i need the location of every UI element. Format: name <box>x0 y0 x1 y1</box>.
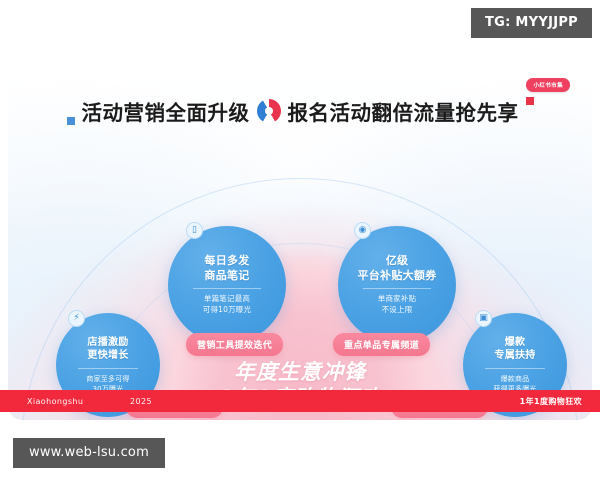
cart-icon: ▣ <box>475 310 492 327</box>
feature-bubble-platform-coupon[interactable]: ◉ 亿级 平台补贴大额券 单商家补贴 不设上限 <box>338 226 456 344</box>
headline-right-text: 报名活动翻倍流量抢先享 <box>288 96 519 126</box>
bubble-sub-line1: 单篇笔记最高 <box>203 294 251 305</box>
bubble-title-line2: 平台补贴大额券 <box>357 269 436 284</box>
footer-bar: Xiaohongshu 2025 1年1度购物狂欢 <box>0 390 600 412</box>
bubble-sub-line1: 商家至多可得 <box>86 374 129 384</box>
coupon-icon: ◉ <box>354 222 371 239</box>
footer-year: 2025 <box>130 397 152 406</box>
footer-tagline: 1年1度购物狂欢 <box>520 396 582 407</box>
bubble-title-line2: 商品笔记 <box>204 269 249 284</box>
footer-brand: Xiaohongshu <box>27 397 83 406</box>
bubble-divider <box>485 368 545 369</box>
headline-left-accent-icon <box>67 117 75 125</box>
headline-left-text: 活动营销全面升级 <box>82 96 250 126</box>
pill-marketing-tools[interactable]: 营销工具提效迭代 <box>186 333 283 356</box>
poster-canvas: TG: MYYJJPP 小红书市集 活动营销全面升级 报名活动翻倍流量抢先享 ▯… <box>0 0 600 480</box>
telegram-watermark: TG: MYYJJPP <box>471 8 592 38</box>
headline-right-accent-icon <box>526 97 534 105</box>
pill-key-product-channel[interactable]: 重点单品专属频道 <box>333 333 430 356</box>
promo-card: 小红书市集 活动营销全面升级 报名活动翻倍流量抢先享 ▯ 每日多发 商品笔记 单… <box>8 58 592 420</box>
bubble-divider <box>363 288 431 289</box>
bubble-sub-line2: 不设上限 <box>378 305 417 316</box>
slogan-line1: 年度生意冲锋 <box>218 360 381 386</box>
lightning-icon: ⚡ <box>68 310 85 327</box>
bubble-sub-line2: 可得10万曝光 <box>203 305 251 316</box>
note-icon: ▯ <box>186 222 203 239</box>
pinwheel-logo-icon <box>257 99 281 123</box>
bubble-title-line2: 更快增长 <box>87 349 128 362</box>
bubble-sub-line1: 单商家补贴 <box>378 294 417 305</box>
bubble-divider <box>78 368 138 369</box>
site-watermark: www.web-lsu.com <box>13 438 165 468</box>
bubble-title-line1: 亿级 <box>357 254 436 269</box>
bubble-title-line2: 专属扶持 <box>494 349 535 362</box>
bubble-title-line1: 爆款 <box>494 336 535 349</box>
headline: 活动营销全面升级 报名活动翻倍流量抢先享 <box>8 96 592 126</box>
bubble-title-line1: 店播激励 <box>87 336 128 349</box>
bubble-sub-line1: 爆款商品 <box>493 374 536 384</box>
market-badge: 小红书市集 <box>526 78 570 92</box>
feature-bubble-daily-notes[interactable]: ▯ 每日多发 商品笔记 单篇笔记最高 可得10万曝光 <box>168 226 286 344</box>
bubble-divider <box>193 288 261 289</box>
bubble-title-line1: 每日多发 <box>204 254 249 269</box>
